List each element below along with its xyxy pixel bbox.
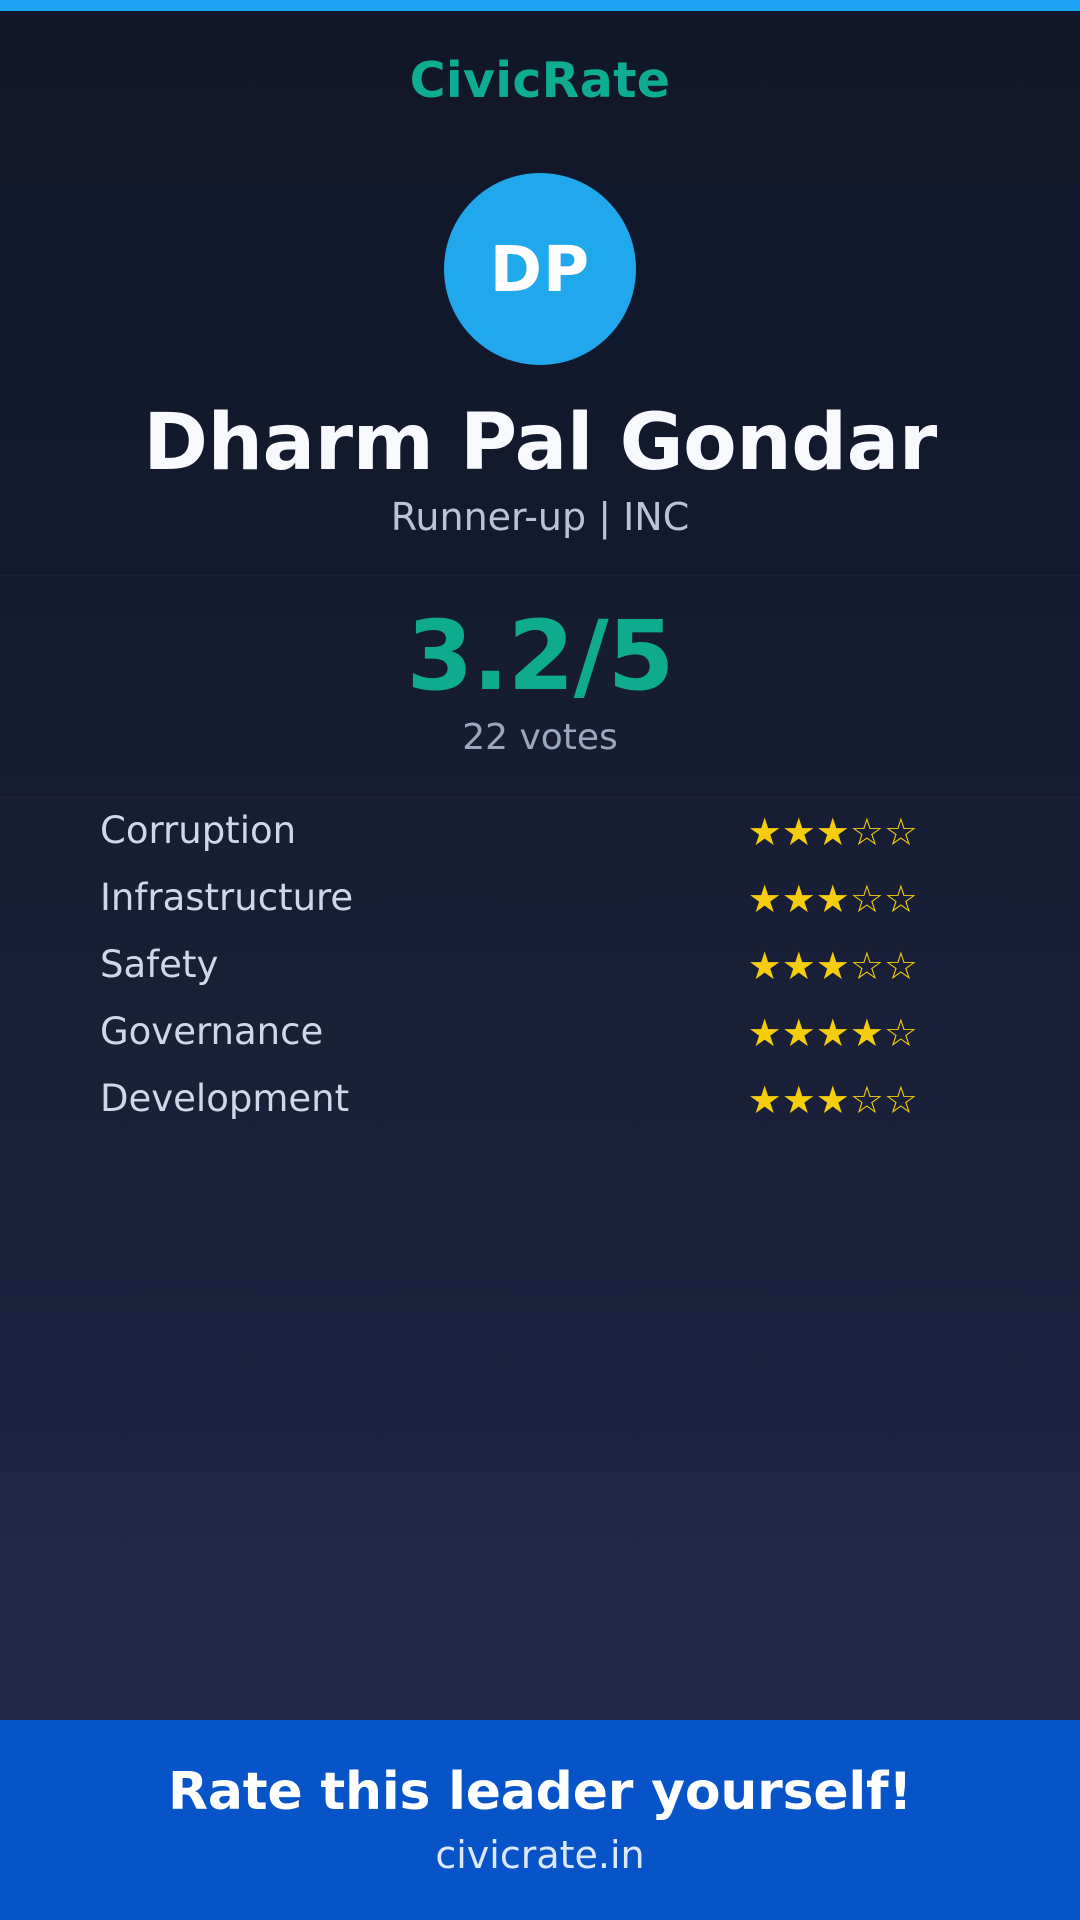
overall-score-block: 3.2/5 22 votes: [0, 575, 1080, 758]
brand-header: CivicRate: [0, 56, 1080, 105]
cta-banner[interactable]: Rate this leader yourself! civicrate.in: [0, 1720, 1080, 1920]
list-item: Development ★★★☆☆: [100, 1066, 984, 1133]
leader-meta: Runner-up | INC: [0, 497, 1080, 539]
avatar-container: DP: [0, 173, 1080, 365]
star-rating-icon: ★★★☆☆: [748, 880, 918, 918]
category-label: Infrastructure: [100, 878, 353, 919]
star-rating-icon: ★★★☆☆: [748, 813, 918, 851]
avatar: DP: [444, 173, 636, 365]
star-rating-icon: ★★★☆☆: [748, 947, 918, 985]
list-item: Corruption ★★★☆☆: [100, 798, 984, 865]
list-item: Safety ★★★☆☆: [100, 932, 984, 999]
top-accent-bar: [0, 0, 1080, 11]
star-rating-icon: ★★★★☆: [748, 1014, 918, 1052]
overall-score-value: 3.2/5: [0, 608, 1080, 704]
cta-headline: Rate this leader yourself!: [168, 1764, 912, 1821]
content-spacer: [0, 1133, 1080, 1720]
list-item: Infrastructure ★★★☆☆: [100, 865, 984, 932]
cta-url[interactable]: civicrate.in: [435, 1835, 644, 1877]
category-label: Governance: [100, 1012, 323, 1053]
category-label: Corruption: [100, 811, 296, 852]
star-rating-icon: ★★★☆☆: [748, 1081, 918, 1119]
overall-score-votes: 22 votes: [0, 718, 1080, 758]
category-label: Development: [100, 1079, 349, 1120]
avatar-initials: DP: [490, 238, 590, 301]
category-ratings-list: Corruption ★★★☆☆ Infrastructure ★★★☆☆ Sa…: [0, 797, 1080, 1133]
category-label: Safety: [100, 945, 218, 986]
list-item: Governance ★★★★☆: [100, 999, 984, 1066]
leader-name: Dharm Pal Gondar: [0, 403, 1080, 485]
brand-title: CivicRate: [0, 56, 1080, 105]
identity-block: Dharm Pal Gondar Runner-up | INC: [0, 403, 1080, 539]
leader-rating-card: CivicRate DP Dharm Pal Gondar Runner-up …: [0, 0, 1080, 1920]
